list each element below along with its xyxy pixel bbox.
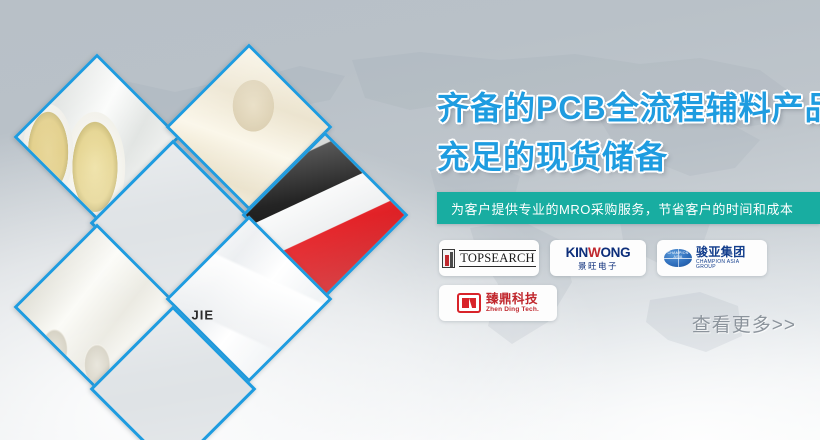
- topsearch-mark-icon: [442, 249, 455, 268]
- subtitle-bar: 为客户提供专业的MRO采购服务，节省客户的时间和成本: [437, 192, 820, 224]
- partner-logo-row-1: TOPSEARCH KINWONG 景旺电子 CHAMPION ASIA: [439, 240, 819, 276]
- kinwong-wordmark-icon: KINWONG 景旺电子: [566, 246, 631, 270]
- champion-globe-text: CHAMPION ASIA: [664, 251, 692, 259]
- champion-label-en: CHAMPION ASIA GROUP: [696, 260, 760, 270]
- zhen-ding-label-cn: 臻鼎科技: [486, 293, 539, 306]
- partner-logo-kinwong[interactable]: KINWONG 景旺电子: [550, 240, 646, 276]
- kinwong-label-cn: 景旺电子: [566, 262, 631, 271]
- partner-logo-topsearch[interactable]: TOPSEARCH: [439, 240, 539, 276]
- zhen-ding-mark-icon: [457, 293, 481, 313]
- partner-logo-champion-asia[interactable]: CHAMPION ASIA 骏亚集团 CHAMPION ASIA GROUP: [657, 240, 767, 276]
- kinwong-text-accent: W: [588, 245, 600, 260]
- topsearch-label: TOPSEARCH: [459, 250, 536, 267]
- partner-logo-zhen-ding[interactable]: 臻鼎科技 Zhen Ding Tech.: [439, 285, 557, 321]
- headline-line-2: 充足的现货储备: [437, 141, 668, 173]
- headline-line-1: 齐备的PCB全流程辅料产品、: [437, 92, 820, 124]
- champion-label-cn: 骏亚集团: [696, 246, 760, 258]
- champion-asia-globe-icon: CHAMPION ASIA: [664, 249, 692, 267]
- banner-content: 齐备的PCB全流程辅料产品、 充足的现货储备 为客户提供专业的MRO采购服务，节…: [425, 0, 820, 440]
- subtitle-text: 为客户提供专业的MRO采购服务，节省客户的时间和成本: [437, 199, 793, 218]
- tile-film-text: JIE: [192, 308, 215, 323]
- kinwong-text-head: KIN: [566, 245, 588, 260]
- promo-banner: JIE 齐备的PCB全流程辅料产品、 充足的现货储备 为客户提供专业的MRO采购…: [0, 0, 820, 440]
- zhen-ding-label-en: Zhen Ding Tech.: [486, 307, 539, 314]
- kinwong-text-tail: ONG: [600, 245, 630, 260]
- view-more-link[interactable]: 查看更多>>: [692, 310, 796, 337]
